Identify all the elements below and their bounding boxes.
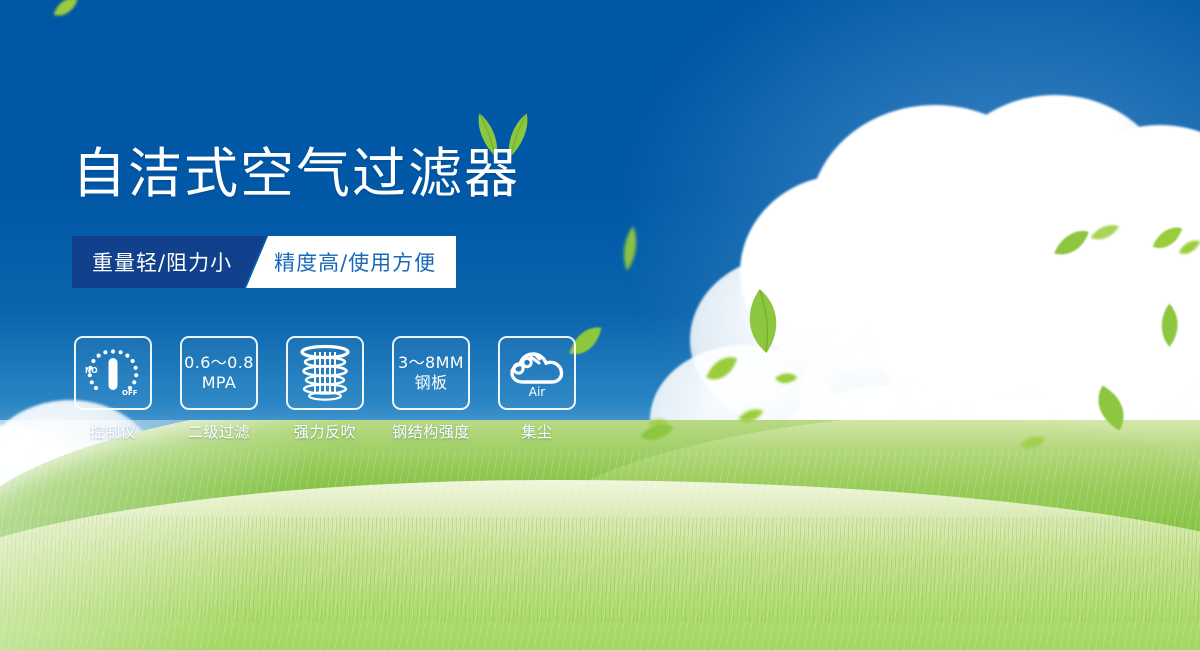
pressure-range: 0.6～0.8 [184, 353, 254, 373]
svg-text:NO: NO [85, 366, 98, 375]
page-title: 自洁式空气过滤器 [72, 144, 520, 204]
feature-list: NO OFF 控制仪 0.6～0.8 MPA 二级过滤 [74, 336, 576, 442]
pressure-unit: MPA [184, 373, 254, 393]
feature-icon-box: 0.6～0.8 MPA [180, 336, 258, 410]
grass-sheen [0, 420, 1200, 650]
steel-material: 钢板 [398, 373, 464, 393]
feature-item-blowback[interactable]: 强力反吹 [286, 336, 364, 442]
air-label: Air [529, 385, 546, 399]
feature-item-dust-collection[interactable]: Air 集尘 [498, 336, 576, 442]
subtitle-bar: 重量轻/阻力小 精度高/使用方便 [72, 236, 456, 288]
feature-item-filtration[interactable]: 0.6～0.8 MPA 二级过滤 [180, 336, 258, 442]
pressure-text-icon: 0.6～0.8 MPA [184, 353, 254, 393]
feature-label: 集尘 [521, 421, 552, 442]
svg-text:OFF: OFF [122, 389, 138, 397]
feature-icon-box: Air [498, 336, 576, 410]
subtitle-tag-left: 重量轻/阻力小 [72, 236, 266, 288]
feature-icon-box [286, 336, 364, 410]
feature-item-controller[interactable]: NO OFF 控制仪 [74, 336, 152, 442]
feature-icon-box: NO OFF [74, 336, 152, 410]
air-cloud-dust-icon: Air [505, 344, 569, 402]
feature-label: 强力反吹 [294, 421, 356, 442]
coil-stack-icon [298, 344, 352, 402]
feature-label: 钢结构强度 [392, 421, 470, 442]
gauge-dial-icon: NO OFF [82, 345, 144, 401]
feature-label: 二级过滤 [188, 421, 250, 442]
subtitle-tag-right: 精度高/使用方便 [246, 236, 456, 288]
feature-icon-box: 3～8MM 钢板 [392, 336, 470, 410]
feature-item-steel-strength[interactable]: 3～8MM 钢板 钢结构强度 [392, 336, 470, 442]
feature-label: 控制仪 [90, 421, 137, 442]
steel-plate-text-icon: 3～8MM 钢板 [398, 353, 464, 393]
steel-thickness: 3～8MM [398, 353, 464, 373]
grass-field [0, 420, 1200, 650]
product-banner: 自洁式空气过滤器 重量轻/阻力小 精度高/使用方便 [0, 0, 1200, 650]
